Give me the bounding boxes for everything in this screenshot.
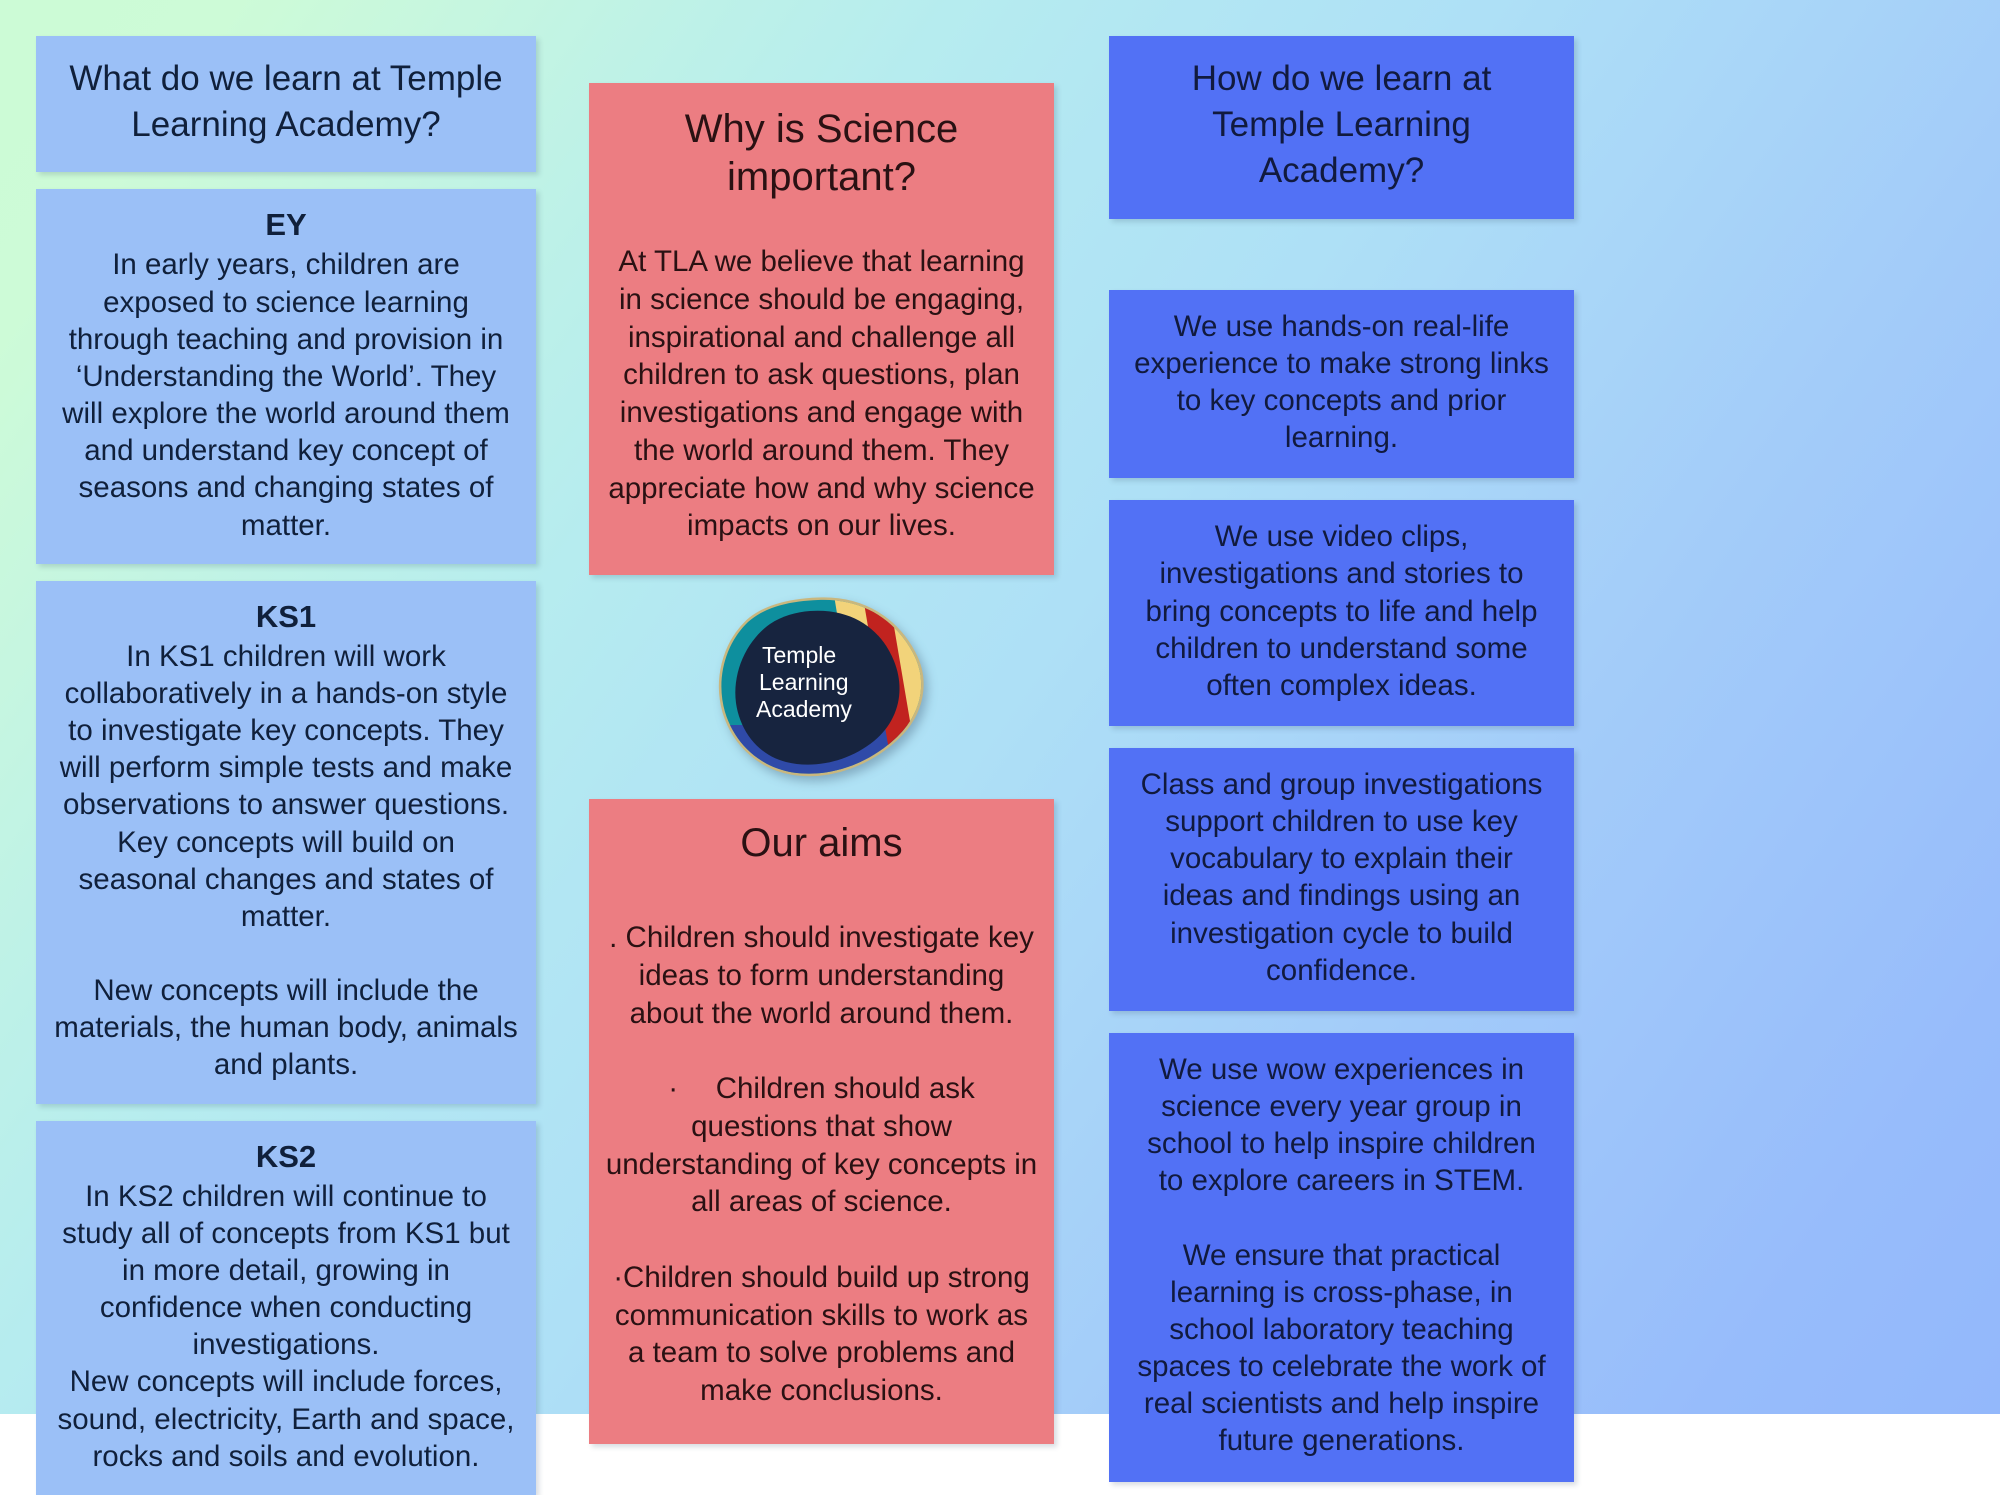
left-card-ks1-paragraph-1: In KS1 children will work collaborativel… <box>54 638 518 824</box>
logo-text-line-2: Learning <box>759 669 849 695</box>
logo-container: Temple Learning Academy <box>589 575 1054 799</box>
why-science-important-title: Why is Science important? <box>607 105 1036 201</box>
left-column-header-text: What do we learn at Temple Learning Acad… <box>69 59 502 144</box>
left-card-ks2-paragraph-2: New concepts will include forces, sound,… <box>54 1363 518 1474</box>
right-column-header-text: How do we learn at Temple Learning Acade… <box>1192 59 1492 190</box>
left-card-ks1-blank-line <box>54 935 518 972</box>
right-card-video-clips: We use video clips, investigations and s… <box>1109 500 1574 726</box>
left-column-header-card: What do we learn at Temple Learning Acad… <box>36 36 536 172</box>
our-aims-item-3: ·Children should build up strong communi… <box>603 1259 1040 1410</box>
logo-text-line-3: Academy <box>756 696 852 722</box>
middle-column: Why is Science important? At TLA we beli… <box>589 0 1054 1444</box>
right-card-video-clips-text: We use video clips, investigations and s… <box>1131 518 1552 704</box>
left-card-ks2-paragraph-1: In KS2 children will continue to study a… <box>54 1178 518 1364</box>
logo-text-line-1: Temple <box>762 642 836 668</box>
right-card-hands-on: We use hands-on real-life experience to … <box>1109 290 1574 479</box>
our-aims-item-1: . Children should investigate key ideas … <box>603 919 1040 1032</box>
left-card-ks1-title: KS1 <box>54 597 518 636</box>
right-card-wow-experiences: We use wow experiences in science every … <box>1109 1033 1574 1482</box>
left-card-ks1-paragraph-2: Key concepts will build on seasonal chan… <box>54 824 518 935</box>
left-card-ks1-paragraph-3: New concepts will include the materials,… <box>54 972 518 1083</box>
our-aims-item-2: · Children should ask questions that sho… <box>603 1070 1040 1221</box>
poster-canvas: What do we learn at Temple Learning Acad… <box>0 0 2000 1414</box>
our-aims-title: Our aims <box>603 819 1040 867</box>
left-card-ks2: KS2 In KS2 children will continue to stu… <box>36 1121 536 1495</box>
right-card-group-investigations: Class and group investigations support c… <box>1109 748 1574 1011</box>
left-card-ks2-title: KS2 <box>54 1137 518 1176</box>
temple-learning-academy-logo: Temple Learning Academy <box>714 595 929 780</box>
right-card-hands-on-text: We use hands-on real-life experience to … <box>1131 308 1552 457</box>
right-card-wow-experiences-text-1: We use wow experiences in science every … <box>1131 1051 1552 1200</box>
right-card-wow-experiences-text-2: We ensure that practical learning is cro… <box>1131 1237 1552 1460</box>
why-science-important-body: At TLA we believe that learning in scien… <box>607 243 1036 545</box>
poster-columns: What do we learn at Temple Learning Acad… <box>0 0 2000 1414</box>
why-science-important-card: Why is Science important? At TLA we beli… <box>589 83 1054 575</box>
left-card-ks1: KS1 In KS1 children will work collaborat… <box>36 581 536 1104</box>
left-card-ey-title: EY <box>54 205 518 244</box>
our-aims-card: Our aims . Children should investigate k… <box>589 799 1054 1444</box>
right-column-header-card: How do we learn at Temple Learning Acade… <box>1109 36 1574 219</box>
left-column: What do we learn at Temple Learning Acad… <box>36 0 536 1495</box>
left-card-ey-paragraph: In early years, children are exposed to … <box>54 246 518 543</box>
right-card-group-investigations-text: Class and group investigations support c… <box>1131 766 1552 989</box>
right-card-wow-experiences-blank-line <box>1131 1200 1552 1237</box>
right-column: How do we learn at Temple Learning Acade… <box>1109 0 1574 1482</box>
left-card-ey: EY In early years, children are exposed … <box>36 189 536 563</box>
